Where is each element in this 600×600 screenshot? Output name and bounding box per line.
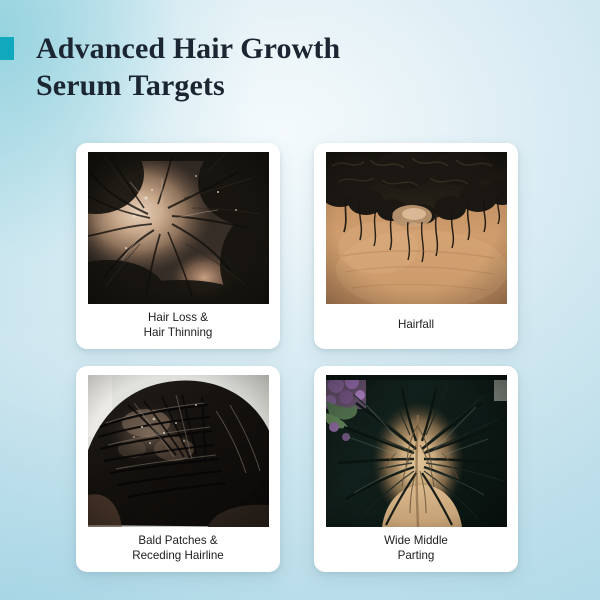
card-hair-loss-thinning: Hair Loss & Hair Thinning (76, 143, 280, 349)
page-title: Advanced Hair Growth Serum Targets (36, 30, 466, 104)
scalp-crown-thinning-photo (88, 152, 269, 304)
card-caption: Hairfall (394, 304, 438, 349)
card-caption: Bald Patches & Receding Hairline (128, 527, 228, 572)
page-title-line-2: Serum Targets (36, 67, 466, 104)
title-accent-bar (0, 37, 14, 60)
wide-middle-parting-photo (326, 375, 507, 527)
card-hairfall: Hairfall (314, 143, 518, 349)
card-caption: Hair Loss & Hair Thinning (140, 304, 217, 349)
page-title-line-1: Advanced Hair Growth (36, 30, 466, 67)
card-wide-middle-parting: Wide Middle Parting (314, 366, 518, 572)
card-caption: Wide Middle Parting (380, 527, 452, 572)
scalp-bald-patches-photo (88, 375, 269, 527)
poster-canvas: Advanced Hair Growth Serum Targets (0, 0, 600, 600)
forehead-hairline-photo (326, 152, 507, 304)
card-bald-patches-receding-hairline: Bald Patches & Receding Hairline (76, 366, 280, 572)
